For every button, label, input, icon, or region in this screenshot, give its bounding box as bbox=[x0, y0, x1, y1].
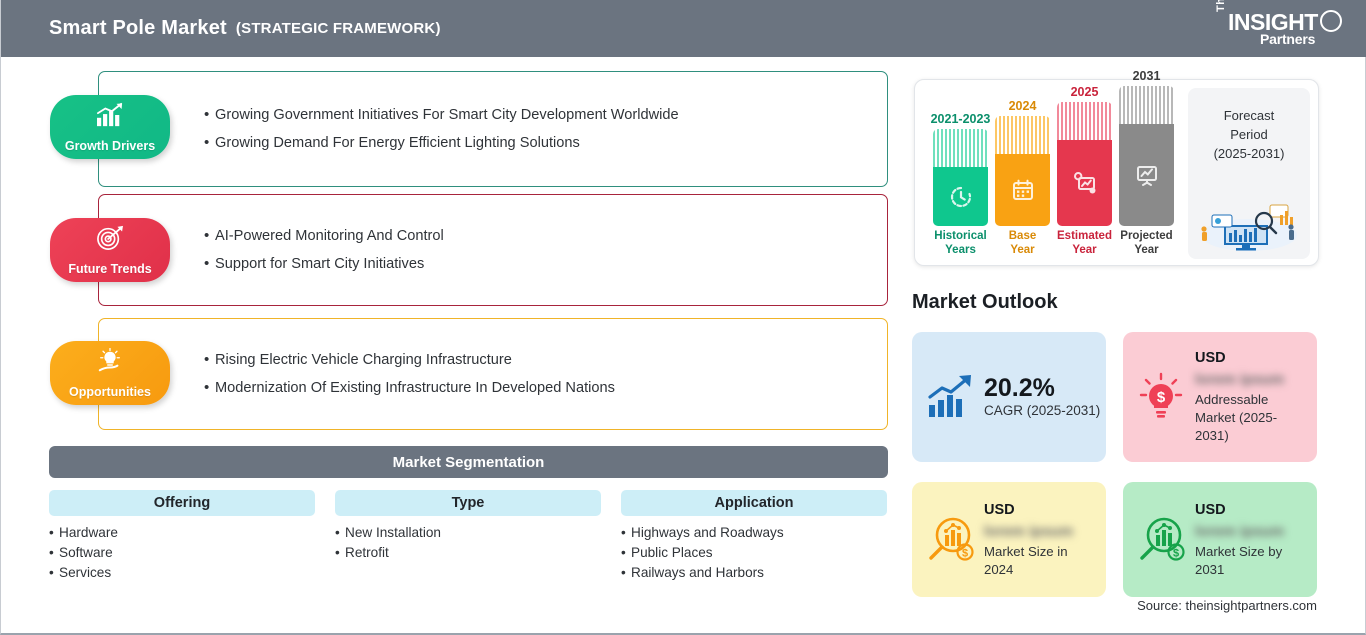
card-market-size-2024[interactable]: $ USD lorem ipsum Market Size in 2024 bbox=[912, 482, 1106, 597]
bar-solid-body bbox=[995, 154, 1050, 226]
list-item: Services bbox=[49, 563, 315, 583]
bar-solid-body bbox=[933, 167, 988, 226]
logo-partners-text: Partners bbox=[1260, 31, 1315, 47]
badge-opportunities[interactable]: Opportunities bbox=[50, 341, 170, 405]
badge-label: Opportunities bbox=[69, 385, 151, 399]
market-size-2031-value: lorem ipsum bbox=[1195, 522, 1284, 541]
list-item: Retrofit bbox=[335, 543, 601, 563]
bar-shape bbox=[933, 129, 988, 226]
list-item: Hardware bbox=[49, 523, 315, 543]
clock-history-icon bbox=[949, 185, 973, 209]
bar-solid-body bbox=[1119, 124, 1174, 226]
list-item: Railways and Harbors bbox=[621, 563, 887, 583]
list-item: Rising Electric Vehicle Charging Infrast… bbox=[204, 346, 615, 374]
badge-label: Future Trends bbox=[68, 262, 151, 276]
bar-chart-arrow-icon bbox=[95, 102, 125, 128]
bar-shape bbox=[1057, 102, 1112, 226]
analytics-illustration-icon bbox=[1194, 195, 1304, 253]
card-market-size-2031[interactable]: $ USD lorem ipsum Market Size by 2031 bbox=[1123, 482, 1317, 597]
analytics-gear-icon bbox=[1073, 171, 1097, 195]
presentation-chart-icon bbox=[1135, 163, 1159, 187]
bar-year-label: 2021-2023 bbox=[931, 112, 991, 126]
logo-ring-icon bbox=[1320, 10, 1342, 32]
currency-label: USD bbox=[984, 502, 1015, 518]
bar-caption: BaseYear bbox=[1009, 230, 1037, 257]
segmentation-column-application: Application Highways and Roadways Public… bbox=[621, 490, 887, 590]
bar-striped-top bbox=[933, 129, 988, 167]
magnifier-bars-dollar-icon: $ bbox=[1135, 514, 1187, 566]
forecast-period-line3: (2025-2031) bbox=[1188, 144, 1310, 163]
list-item: Public Places bbox=[621, 543, 887, 563]
forecast-bar-3: 2025EstimatedYear bbox=[1057, 85, 1112, 257]
badge-label: Growth Drivers bbox=[65, 139, 155, 153]
panel-future-trends: AI-Powered Monitoring And Control Suppor… bbox=[98, 194, 888, 306]
card-addressable-market[interactable]: $ USD lorem ipsum Addressable Market (20… bbox=[1123, 332, 1317, 462]
list-item: Support for Smart City Initiatives bbox=[204, 250, 444, 278]
growth-drivers-bullet-list: Growing Government Initiatives For Smart… bbox=[204, 101, 679, 157]
forecast-bar-1: 2021-2023HistoricalYears bbox=[933, 112, 988, 257]
forecast-period-panel: Forecast Period (2025-2031) bbox=[1188, 88, 1310, 259]
source-attribution: Source: theinsightpartners.com bbox=[1137, 598, 1317, 613]
forecast-period-line1: Forecast bbox=[1188, 106, 1310, 125]
opportunities-bullet-list: Rising Electric Vehicle Charging Infrast… bbox=[204, 346, 615, 402]
forecast-bar-2: 2024BaseYear bbox=[995, 99, 1050, 257]
bar-year-label: 2025 bbox=[1071, 85, 1099, 99]
forecast-period-text: Forecast Period (2025-2031) bbox=[1188, 106, 1310, 163]
list-item: Highways and Roadways bbox=[621, 523, 887, 543]
badge-growth-drivers[interactable]: Growth Drivers bbox=[50, 95, 170, 159]
bar-chart-growth-icon bbox=[924, 371, 976, 423]
list-item: Growing Demand For Energy Efficient Ligh… bbox=[204, 129, 679, 157]
forecast-period-line2: Period bbox=[1188, 125, 1310, 144]
card-cagr[interactable]: 20.2% CAGR (2025-2031) bbox=[912, 332, 1106, 462]
panel-growth-drivers: Growing Government Initiatives For Smart… bbox=[98, 71, 888, 187]
panel-opportunities: Rising Electric Vehicle Charging Infrast… bbox=[98, 318, 888, 430]
forecast-bar-4: 2031ProjectedYear bbox=[1119, 69, 1174, 257]
bar-striped-top bbox=[1119, 86, 1174, 124]
column-header: Type bbox=[335, 490, 601, 516]
svg-text:$: $ bbox=[962, 547, 968, 559]
bar-striped-top bbox=[995, 116, 1050, 154]
bar-caption: ProjectedYear bbox=[1120, 230, 1172, 257]
market-outlook-title: Market Outlook bbox=[912, 291, 1058, 314]
bar-striped-top bbox=[1057, 102, 1112, 140]
currency-label: USD bbox=[1195, 502, 1226, 518]
addressable-market-label: Addressable Market (2025-2031) bbox=[1195, 392, 1277, 443]
cagr-value: 20.2% bbox=[984, 374, 1055, 402]
svg-text:$: $ bbox=[1173, 547, 1179, 559]
badge-future-trends[interactable]: Future Trends bbox=[50, 218, 170, 282]
bar-year-label: 2024 bbox=[1009, 99, 1037, 113]
offering-list: Hardware Software Services bbox=[49, 523, 315, 583]
currency-label: USD bbox=[1195, 350, 1226, 366]
market-size-2031-label: Market Size by 2031 bbox=[1195, 544, 1282, 577]
addressable-market-value: lorem ipsum bbox=[1195, 370, 1284, 389]
market-segmentation-title: Market Segmentation bbox=[393, 454, 545, 471]
bar-shape bbox=[1119, 86, 1174, 226]
bar-year-label: 2031 bbox=[1133, 69, 1161, 83]
list-item: Modernization Of Existing Infrastructure… bbox=[204, 374, 615, 402]
bar-solid-body bbox=[1057, 140, 1112, 226]
column-header: Offering bbox=[49, 490, 315, 516]
list-item: New Installation bbox=[335, 523, 601, 543]
page-title: Smart Pole Market bbox=[49, 17, 227, 40]
page-header: Smart Pole Market (STRATEGIC FRAMEWORK) … bbox=[1, 0, 1366, 57]
forecast-bars: 2021-2023HistoricalYears2024BaseYear2025… bbox=[929, 80, 1184, 267]
lightbulb-dollar-icon: $ bbox=[1135, 371, 1187, 423]
market-segmentation-header: Market Segmentation bbox=[49, 446, 888, 478]
calendar-icon bbox=[1011, 178, 1035, 202]
insight-partners-logo: The INSIGHT Partners bbox=[1215, 8, 1345, 50]
type-list: New Installation Retrofit bbox=[335, 523, 601, 563]
bar-caption: EstimatedYear bbox=[1057, 230, 1112, 257]
column-header: Application bbox=[621, 490, 887, 516]
lightbulb-hand-icon bbox=[95, 348, 125, 374]
cagr-label: CAGR (2025-2031) bbox=[984, 403, 1100, 418]
future-trends-bullet-list: AI-Powered Monitoring And Control Suppor… bbox=[204, 222, 444, 278]
application-list: Highways and Roadways Public Places Rail… bbox=[621, 523, 887, 583]
list-item: Software bbox=[49, 543, 315, 563]
market-size-2024-value: lorem ipsum bbox=[984, 522, 1073, 541]
svg-text:$: $ bbox=[1157, 389, 1166, 406]
target-dart-icon bbox=[95, 225, 125, 251]
magnifier-bars-dollar-icon: $ bbox=[924, 514, 976, 566]
bar-shape bbox=[995, 116, 1050, 226]
bar-caption: HistoricalYears bbox=[934, 230, 986, 257]
segmentation-columns: Offering Hardware Software Services Type… bbox=[49, 490, 888, 590]
list-item: Growing Government Initiatives For Smart… bbox=[204, 101, 679, 129]
list-item: AI-Powered Monitoring And Control bbox=[204, 222, 444, 250]
segmentation-column-type: Type New Installation Retrofit bbox=[335, 490, 601, 590]
market-size-2024-label: Market Size in 2024 bbox=[984, 544, 1068, 577]
forecast-timeline-card: 2021-2023HistoricalYears2024BaseYear2025… bbox=[914, 79, 1319, 266]
segmentation-column-offering: Offering Hardware Software Services bbox=[49, 490, 315, 590]
page-subtitle: (STRATEGIC FRAMEWORK) bbox=[236, 20, 441, 37]
logo-the-text: The bbox=[1215, 0, 1227, 12]
